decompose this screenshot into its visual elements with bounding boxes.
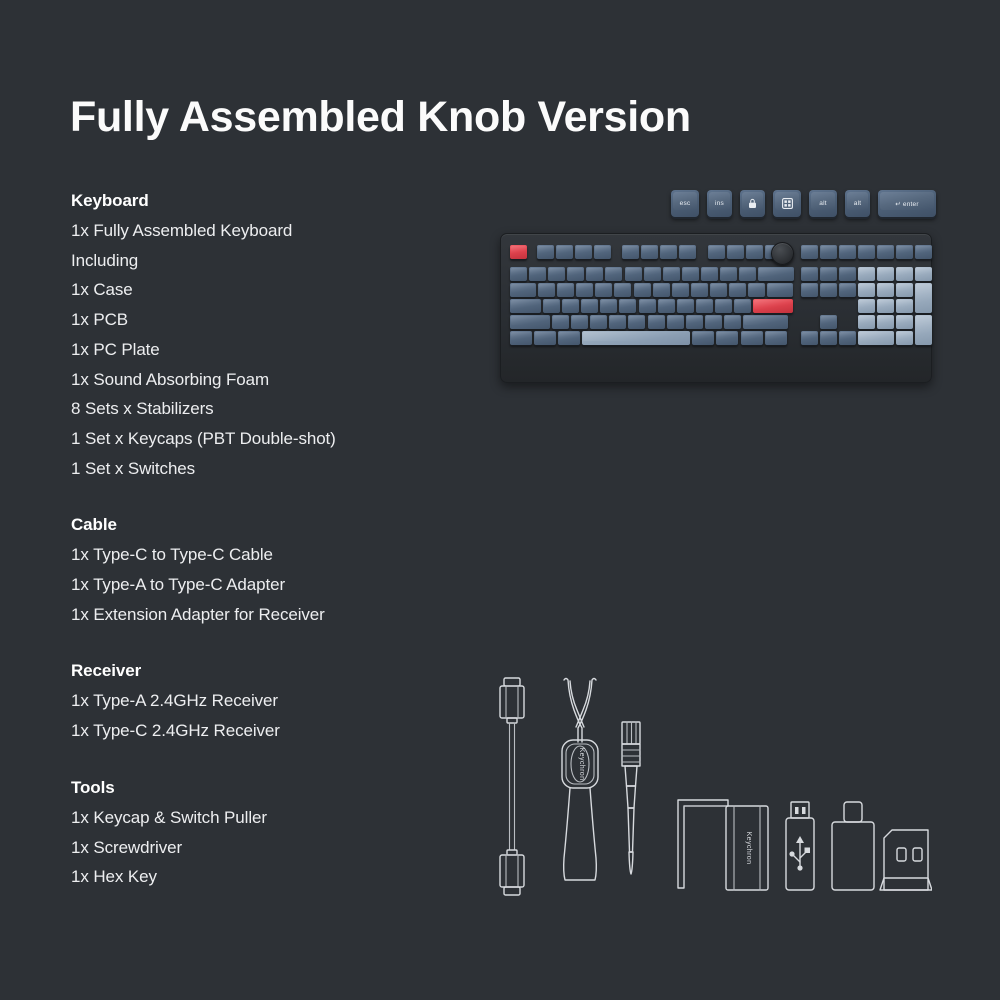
key-a — [543, 299, 560, 313]
key-media-1 — [801, 245, 818, 259]
key-command-left — [558, 331, 580, 345]
key-tab — [510, 283, 536, 297]
key-media-2 — [820, 245, 837, 259]
extra-keycap-lock — [740, 190, 765, 217]
key-w — [557, 283, 574, 297]
key-numpad-dash — [915, 267, 932, 281]
key-numpad-enter — [915, 315, 932, 345]
key-numpad-divide — [877, 245, 894, 259]
key-7 — [644, 267, 661, 281]
key-end — [820, 283, 837, 297]
key-f4 — [594, 245, 611, 259]
extra-keycap-esc: esc — [671, 190, 699, 217]
spec-line: Including — [71, 246, 471, 276]
key-l — [696, 299, 713, 313]
key-q — [538, 283, 555, 297]
key-period — [705, 315, 722, 329]
extra-keycap-label: ins — [715, 200, 724, 207]
type-c-receiver-icon — [832, 802, 874, 890]
key-backslash — [767, 283, 793, 297]
key-f3 — [575, 245, 592, 259]
key-backspace — [758, 267, 794, 281]
key-d — [581, 299, 598, 313]
spec-list: Keyboard 1x Fully Assembled Keyboard Inc… — [71, 186, 471, 892]
key-u — [653, 283, 670, 297]
spec-line: 1 Set x Keycaps (PBT Double-shot) — [71, 424, 471, 454]
key-n — [648, 315, 665, 329]
key-option-right — [716, 331, 738, 345]
key-numpad-decimal — [896, 331, 913, 345]
key-capslock — [510, 299, 541, 313]
key-h — [639, 299, 656, 313]
key-f — [600, 299, 617, 313]
type-a-to-type-c-adapter-icon — [880, 830, 932, 890]
extra-keycap-label: ↵ enter — [895, 200, 918, 208]
key-numpad-multiply — [896, 245, 913, 259]
key-numpad-plus — [915, 283, 932, 313]
key-control-left — [510, 331, 532, 345]
key-minus — [720, 267, 737, 281]
extension-adapter-icon: Keychron — [726, 806, 768, 890]
spec-line: 1x Sound Absorbing Foam — [71, 365, 471, 395]
key-enter — [753, 299, 793, 313]
key-c — [590, 315, 607, 329]
key-numlock-clear — [858, 267, 875, 281]
key-f6 — [641, 245, 658, 259]
key-g — [619, 299, 636, 313]
spec-line: 1x Type-A to Type-C Adapter — [71, 570, 471, 600]
key-f8 — [679, 245, 696, 259]
extra-keycap-enter: ↵ enter — [878, 190, 936, 217]
key-delete — [801, 283, 818, 297]
spec-line: 1x PCB — [71, 305, 471, 335]
key-9 — [682, 267, 699, 281]
keyboard-product-image — [500, 233, 932, 383]
key-arrow-right — [839, 331, 856, 345]
key-i — [672, 283, 689, 297]
grid-icon — [782, 198, 793, 209]
key-numpad-star — [896, 267, 913, 281]
puller-brand-label: Keychron — [578, 748, 585, 781]
key-backtick — [510, 267, 527, 281]
key-numpad-5 — [877, 299, 894, 313]
section-heading-keyboard: Keyboard — [71, 186, 471, 216]
key-bracket-left — [729, 283, 746, 297]
key-numpad-2 — [877, 315, 894, 329]
key-numpad-1 — [858, 315, 875, 329]
key-numpad-3 — [896, 315, 913, 329]
key-k — [677, 299, 694, 313]
key-media-3 — [839, 245, 856, 259]
spec-line: 1x Fully Assembled Keyboard — [71, 216, 471, 246]
key-fn — [741, 331, 763, 345]
key-j — [658, 299, 675, 313]
key-1 — [529, 267, 546, 281]
key-option-left — [534, 331, 556, 345]
spec-section-cable: Cable 1x Type-C to Type-C Cable 1x Type-… — [71, 510, 471, 629]
key-y — [634, 283, 651, 297]
spec-line: 1x Screwdriver — [71, 833, 471, 863]
key-f9 — [708, 245, 725, 259]
key-slash — [724, 315, 741, 329]
spec-line: 1x Keycap & Switch Puller — [71, 803, 471, 833]
key-6 — [625, 267, 642, 281]
key-4 — [586, 267, 603, 281]
spec-line: 1x Case — [71, 275, 471, 305]
type-c-to-type-c-cable-icon — [500, 678, 524, 895]
extra-keycap-grid — [773, 190, 801, 217]
key-numlock — [858, 245, 875, 259]
key-esc — [510, 245, 527, 259]
key-s — [562, 299, 579, 313]
accessories-illustration: Keychron Keychron — [492, 672, 932, 898]
key-r — [595, 283, 612, 297]
key-m — [667, 315, 684, 329]
key-e — [576, 283, 593, 297]
key-b — [628, 315, 645, 329]
key-semicolon — [715, 299, 732, 313]
key-command-right — [692, 331, 714, 345]
key-numpad-6 — [896, 299, 913, 313]
key-z — [552, 315, 569, 329]
key-numpad-0 — [858, 331, 894, 345]
key-home — [820, 267, 837, 281]
spec-line: 8 Sets x Stabilizers — [71, 394, 471, 424]
spec-line: 1x Hex Key — [71, 862, 471, 892]
key-3 — [567, 267, 584, 281]
key-5 — [605, 267, 622, 281]
key-arrow-up — [820, 315, 837, 329]
section-heading-tools: Tools — [71, 773, 471, 803]
key-numpad-slash — [877, 267, 894, 281]
extra-keycaps-row: esc ins alt alt ↵ enter — [671, 190, 936, 217]
spec-section-tools: Tools 1x Keycap & Switch Puller 1x Screw… — [71, 773, 471, 892]
spec-line: 1x PC Plate — [71, 335, 471, 365]
spec-line: 1 Set x Switches — [71, 454, 471, 484]
spec-line: 1x Type-A 2.4GHz Receiver — [71, 686, 471, 716]
rotary-knob — [771, 242, 794, 265]
screwdriver-icon — [622, 722, 640, 874]
key-numpad-8 — [877, 283, 894, 297]
key-f11 — [746, 245, 763, 259]
key-numpad-9 — [896, 283, 913, 297]
keycap-switch-puller-icon: Keychron — [562, 679, 598, 881]
key-pageup — [839, 267, 856, 281]
lock-icon — [748, 198, 757, 209]
hex-key-icon — [678, 800, 728, 888]
extra-keycap-alt-left: alt — [809, 190, 837, 217]
key-2 — [548, 267, 565, 281]
extra-keycap-label: esc — [680, 200, 691, 207]
page-title: Fully Assembled Knob Version — [70, 96, 691, 139]
usb-symbol-icon — [789, 836, 810, 871]
key-numpad-4 — [858, 299, 875, 313]
key-quote — [734, 299, 751, 313]
extra-keycap-label: alt — [819, 200, 826, 207]
key-insert — [801, 267, 818, 281]
spec-section-keyboard: Keyboard 1x Fully Assembled Keyboard Inc… — [71, 186, 471, 483]
key-arrow-down — [820, 331, 837, 345]
extra-keycap-alt-right: alt — [845, 190, 870, 217]
key-f7 — [660, 245, 677, 259]
type-a-receiver-icon — [786, 802, 814, 890]
section-heading-cable: Cable — [71, 510, 471, 540]
key-f5 — [622, 245, 639, 259]
keyboard-keys-area — [510, 245, 922, 371]
key-v — [609, 315, 626, 329]
key-comma — [686, 315, 703, 329]
section-heading-receiver: Receiver — [71, 656, 471, 686]
key-0 — [701, 267, 718, 281]
key-bracket-right — [748, 283, 765, 297]
key-numpad-minus-top — [915, 245, 932, 259]
spec-line: 1x Extension Adapter for Receiver — [71, 600, 471, 630]
key-x — [571, 315, 588, 329]
key-f1 — [537, 245, 554, 259]
key-control-right — [765, 331, 787, 345]
adapter-brand-label: Keychron — [745, 832, 752, 865]
key-8 — [663, 267, 680, 281]
spec-line: 1x Type-C to Type-C Cable — [71, 540, 471, 570]
key-shift-left — [510, 315, 550, 329]
key-p — [710, 283, 727, 297]
key-arrow-left — [801, 331, 818, 345]
key-t — [614, 283, 631, 297]
key-equals — [739, 267, 756, 281]
key-numpad-7 — [858, 283, 875, 297]
spec-line: 1x Type-C 2.4GHz Receiver — [71, 716, 471, 746]
key-shift-right — [743, 315, 788, 329]
spec-section-receiver: Receiver 1x Type-A 2.4GHz Receiver 1x Ty… — [71, 656, 471, 745]
key-f2 — [556, 245, 573, 259]
key-spacebar — [582, 331, 690, 345]
extra-keycap-ins: ins — [707, 190, 732, 217]
key-o — [691, 283, 708, 297]
key-f10 — [727, 245, 744, 259]
key-pagedown — [839, 283, 856, 297]
extra-keycap-label: alt — [854, 200, 861, 207]
